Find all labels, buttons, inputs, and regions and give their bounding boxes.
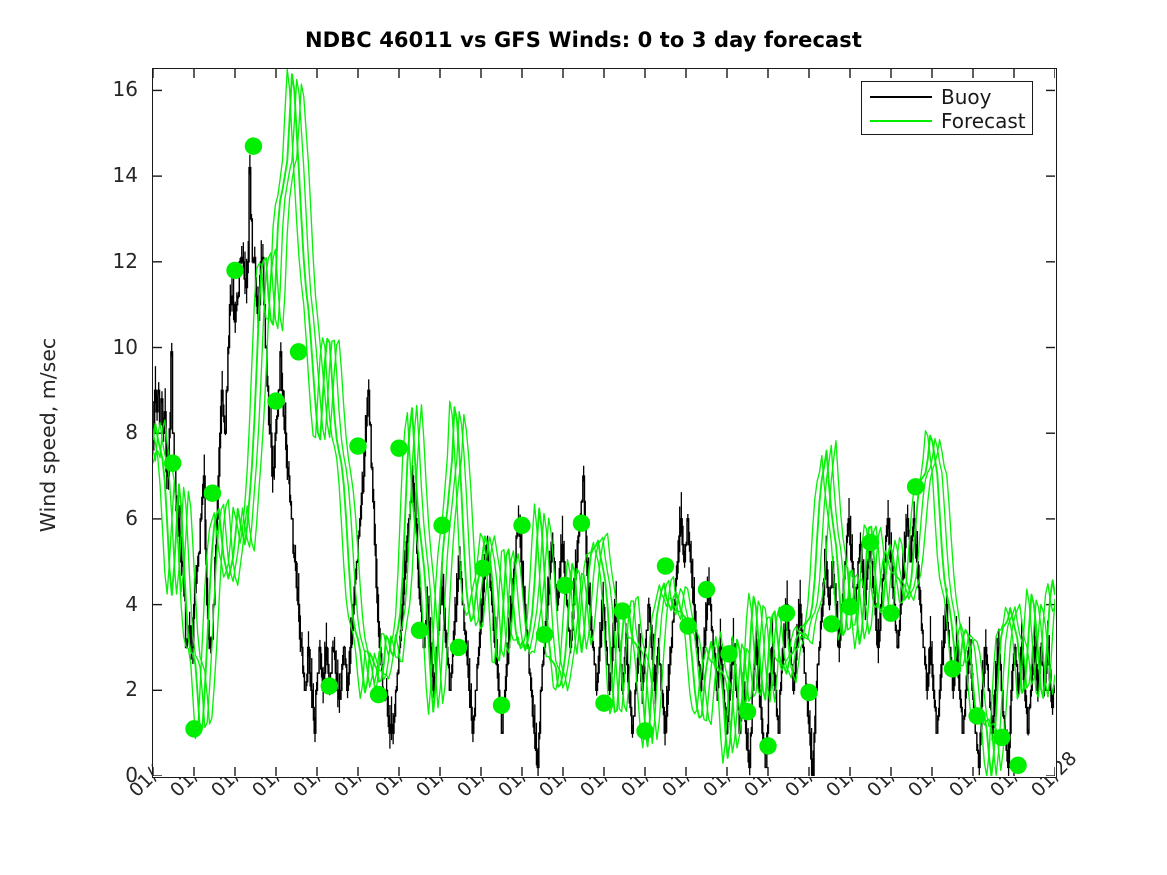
legend-label: Forecast [941,111,1026,131]
legend: BuoyForecast [861,81,1033,135]
plot-area [152,68,1057,778]
legend-line-swatch [870,96,932,98]
legend-line-swatch [870,120,932,122]
legend-label: Buoy [941,87,991,107]
plot-svg [153,69,1055,776]
legend-item-forecast[interactable]: Forecast [862,109,1032,133]
legend-item-buoy[interactable]: Buoy [862,85,1032,109]
chart-figure: NDBC 46011 vs GFS Winds: 0 to 3 day fore… [0,0,1167,875]
